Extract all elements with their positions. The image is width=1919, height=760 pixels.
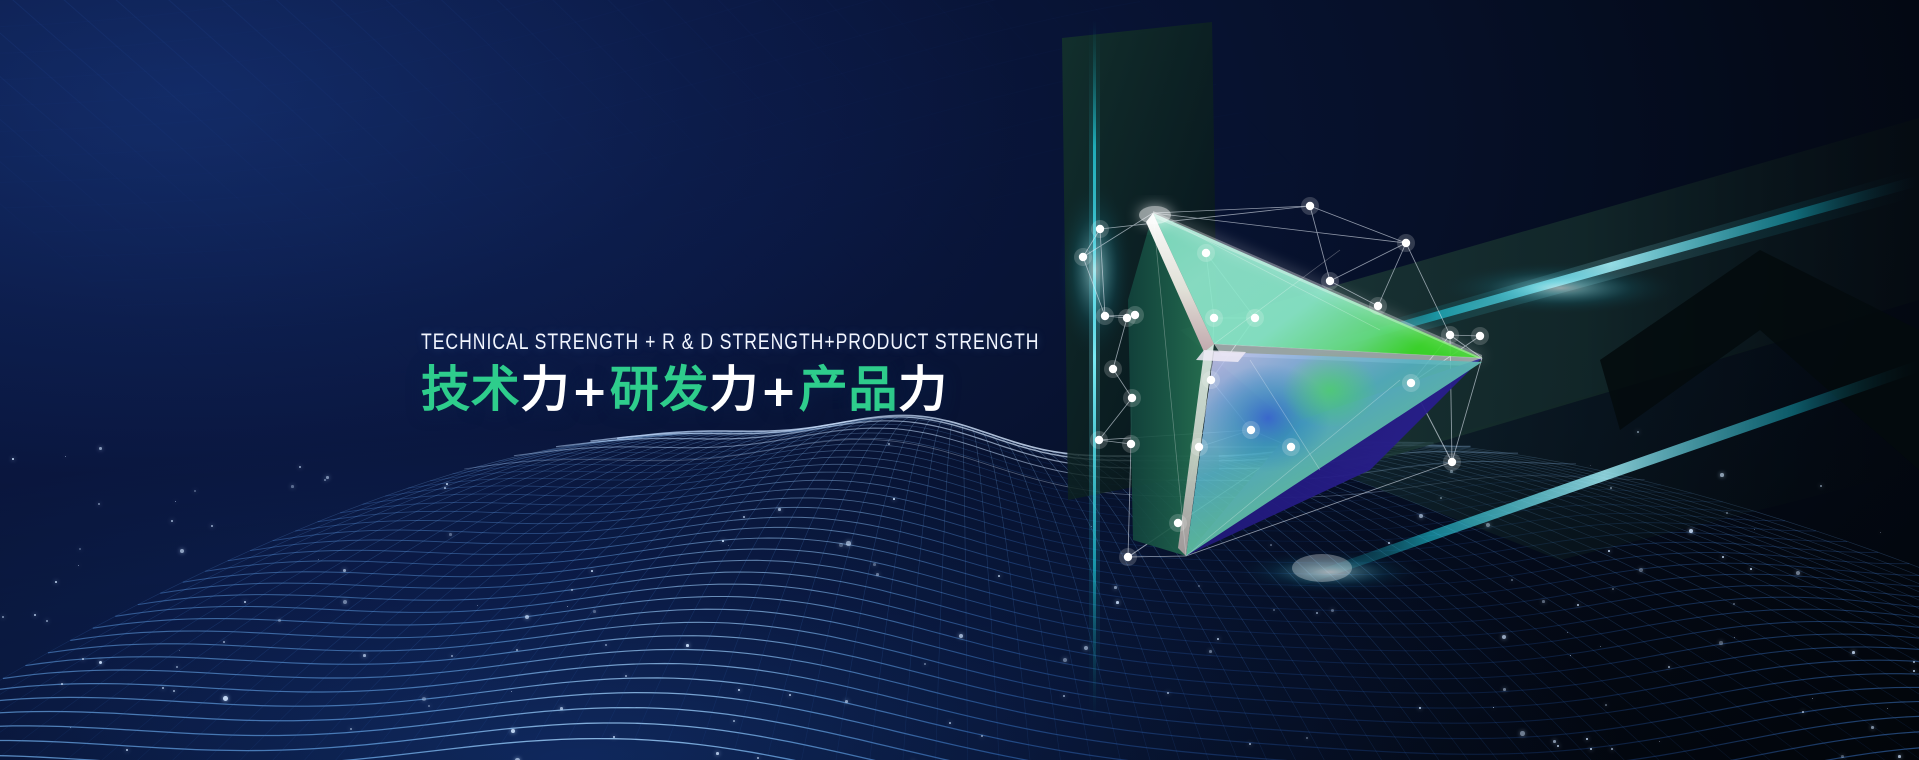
particle-dot <box>593 610 596 613</box>
particle-dot <box>1722 556 1724 558</box>
particle-dot <box>567 606 568 607</box>
particle-dot <box>516 649 518 651</box>
particle-dot <box>291 485 294 488</box>
particle-dot <box>1796 571 1800 575</box>
particle-dot <box>1880 532 1881 533</box>
particle-dot <box>180 549 184 553</box>
particle-dot <box>959 634 963 638</box>
particle-dot <box>1608 550 1610 552</box>
constellation-node <box>1131 311 1139 319</box>
constellation-node <box>1101 312 1109 320</box>
particle-dot <box>1726 512 1728 514</box>
constellation-node <box>1127 440 1135 448</box>
particle-dot <box>1720 473 1724 477</box>
particle-dot <box>1590 748 1592 750</box>
particle-dot <box>1557 745 1559 747</box>
constellation-node <box>1195 443 1203 451</box>
particle-dot <box>839 543 843 547</box>
constellation-node <box>1124 553 1132 561</box>
particle-dot <box>757 757 759 759</box>
constellation-node <box>1476 332 1484 340</box>
particle-dot <box>1078 455 1079 456</box>
particle-dot <box>299 466 301 468</box>
particle-dot <box>1091 526 1092 527</box>
particle-dot <box>1668 666 1670 668</box>
particle-dot <box>1570 655 1571 656</box>
particle-dot <box>211 525 213 527</box>
particle-dot <box>560 707 563 710</box>
particle-dot <box>1511 579 1513 581</box>
particle-dot <box>876 573 879 576</box>
particle-dot <box>1249 743 1251 745</box>
particle-dot <box>686 644 689 647</box>
particle-dot <box>46 620 48 622</box>
particle-dot <box>194 490 196 492</box>
particle-dot <box>444 487 446 489</box>
particle-dot <box>223 641 225 643</box>
particle-dot <box>1659 741 1660 742</box>
particle-dot <box>845 700 848 703</box>
particle-dot <box>1542 600 1545 603</box>
headline-chinese-segment-0: 技术 <box>421 361 520 418</box>
particle-dot <box>176 666 178 668</box>
particle-dot <box>511 691 512 692</box>
particle-dot <box>1734 637 1735 638</box>
constellation-node <box>1174 519 1182 527</box>
particle-dot <box>1270 544 1272 546</box>
headline-chinese-segment-4: 力 <box>709 361 759 418</box>
constellation-node <box>1402 239 1410 247</box>
particle-dot <box>326 476 329 479</box>
particle-dot <box>363 654 366 657</box>
particle-dot <box>625 675 627 677</box>
particle-dot <box>1063 658 1067 662</box>
particle-dot <box>173 690 175 692</box>
particle-dot <box>1209 650 1212 653</box>
particle-dot <box>605 644 607 646</box>
particle-dot <box>1586 738 1588 740</box>
particle-dot <box>78 565 79 566</box>
particle-dot <box>1913 661 1915 663</box>
particle-dot <box>1502 635 1506 639</box>
particle-dot <box>1590 465 1591 466</box>
particle-dot <box>324 479 326 481</box>
particle-dot <box>343 600 347 604</box>
particle-dot <box>511 729 515 733</box>
particle-dot <box>55 581 57 583</box>
particle-dot <box>449 533 452 536</box>
particle-dot <box>1217 638 1219 640</box>
particle-dot <box>1114 586 1117 589</box>
particle-dot <box>171 520 173 522</box>
particle-dot <box>428 705 430 707</box>
particle-dot <box>1553 740 1556 743</box>
headline-chinese-segment-7: 力 <box>898 361 948 418</box>
headline-chinese-segment-2: + <box>570 366 610 417</box>
particle-dot <box>1486 523 1490 527</box>
headline-english: TECHNICAL STRENGTH + R & D STRENGTH+PROD… <box>421 330 1039 354</box>
particle-dot <box>1733 603 1735 605</box>
particle-dot <box>12 458 14 460</box>
particle-dot <box>1750 568 1752 570</box>
constellation-node <box>1448 458 1456 466</box>
particle-dot <box>1913 670 1915 672</box>
particle-dot <box>65 456 66 457</box>
particle-dot <box>350 728 352 730</box>
particle-dot <box>162 687 164 689</box>
particle-dot <box>1141 479 1143 481</box>
constellation-node <box>1374 302 1382 310</box>
particle-dot <box>82 658 84 660</box>
particle-dot <box>223 696 228 701</box>
particle-dot <box>126 749 128 751</box>
particle-dot <box>244 601 246 603</box>
constellation-node <box>1202 249 1210 257</box>
particle-dot <box>451 655 453 657</box>
hero-banner: TECHNICAL STRENGTH + R & D STRENGTH+PROD… <box>0 0 1919 760</box>
particle-dot <box>873 563 876 566</box>
particle-dot <box>738 689 740 691</box>
constellation-node <box>1095 436 1103 444</box>
constellation-node <box>1407 379 1415 387</box>
particle-dot <box>1419 514 1423 518</box>
particle-dot <box>525 615 529 619</box>
particle-dot <box>1812 698 1813 699</box>
headline-chinese-segment-1: 力 <box>520 361 570 418</box>
particle-dot <box>1450 470 1453 473</box>
headline-chinese-segment-6: 产品 <box>799 361 898 418</box>
constellation-node <box>1326 277 1334 285</box>
particle-dot <box>1316 612 1318 614</box>
particle-dot <box>175 501 176 502</box>
particle-dot <box>278 619 281 622</box>
particle-dot <box>2 616 4 618</box>
particle-dot <box>1719 641 1723 645</box>
particle-dot <box>422 697 426 701</box>
particle-dot <box>888 443 890 445</box>
particle-dot <box>1852 651 1855 654</box>
particle-dot <box>477 605 478 606</box>
particle-dot <box>613 736 615 738</box>
particle-dot <box>722 540 724 542</box>
particle-dot <box>79 548 81 550</box>
particle-dot <box>61 683 63 685</box>
particle-dot <box>778 508 781 511</box>
particle-dot <box>1605 704 1607 706</box>
particle-dot <box>743 516 745 518</box>
particle-dot <box>1388 542 1390 544</box>
particle-dot <box>99 447 102 450</box>
particle-dot <box>733 720 735 722</box>
particle-dot <box>1440 497 1442 499</box>
particle-dot <box>1520 731 1525 736</box>
particle-dot <box>343 569 346 572</box>
particle-dot <box>179 650 180 651</box>
particle-dot <box>1419 707 1421 709</box>
particle-dot <box>846 541 851 546</box>
particle-dot <box>893 498 895 500</box>
particle-dot <box>34 614 36 616</box>
particle-dot <box>1841 755 1844 758</box>
particle-dot <box>1063 695 1065 697</box>
particle-dot <box>789 694 791 696</box>
constellation-node <box>1096 225 1104 233</box>
constellation-node <box>1247 426 1255 434</box>
particle-dot <box>1612 588 1614 590</box>
particle-dot <box>591 570 593 572</box>
particle-dot <box>1820 485 1822 487</box>
particle-dot <box>1331 609 1334 612</box>
particle-dot <box>924 663 926 665</box>
particle-dot <box>98 503 100 505</box>
particle-dot <box>1754 529 1755 530</box>
particle-dot <box>1273 609 1275 611</box>
particle-dot <box>70 727 71 728</box>
particle-dot <box>1167 692 1169 694</box>
headline-chinese: 技术力+研发力+产品力 <box>421 363 1194 418</box>
constellation-node <box>1123 314 1131 322</box>
particle-dot <box>1503 688 1506 691</box>
particle-dot <box>1898 755 1901 758</box>
particle-dot <box>1887 708 1888 709</box>
headline-chinese-segment-5: + <box>759 366 799 417</box>
particle-dot <box>1689 529 1693 533</box>
constellation-node <box>1079 253 1087 261</box>
particle-dot <box>1639 568 1643 572</box>
particle-dot <box>571 589 573 591</box>
particle-dot <box>318 559 319 560</box>
particle-dot <box>99 661 102 664</box>
particle-dot <box>1611 748 1613 750</box>
particle-dot <box>1871 726 1874 729</box>
particle-dot <box>1306 737 1308 739</box>
particle-dot <box>1802 711 1804 713</box>
particle-dot <box>1084 646 1088 650</box>
particle-dot <box>446 483 448 485</box>
constellation-node <box>1306 202 1314 210</box>
particle-dot <box>1567 632 1568 633</box>
particle-dot <box>716 752 719 755</box>
headline-block: TECHNICAL STRENGTH + R & D STRENGTH+PROD… <box>421 330 1194 418</box>
constellation-node <box>1287 443 1295 451</box>
particle-dot <box>949 722 951 724</box>
particle-dot <box>981 735 983 737</box>
constellation-node <box>1446 331 1454 339</box>
constellation-node <box>1251 314 1259 322</box>
particle-dot <box>1198 585 1200 587</box>
particle-dot <box>1116 601 1119 604</box>
particle-dot <box>1637 431 1639 433</box>
constellation-node <box>1210 314 1218 322</box>
particle-dot <box>998 575 1000 577</box>
particle-dot <box>1577 604 1579 606</box>
particle-dot <box>728 545 729 546</box>
particle-dot <box>1208 442 1210 444</box>
headline-chinese-segment-3: 研发 <box>610 361 709 418</box>
particle-dot <box>1600 646 1601 647</box>
particle-dot <box>1493 707 1494 708</box>
particle-dot <box>1610 487 1612 489</box>
constellation-node <box>1207 376 1215 384</box>
